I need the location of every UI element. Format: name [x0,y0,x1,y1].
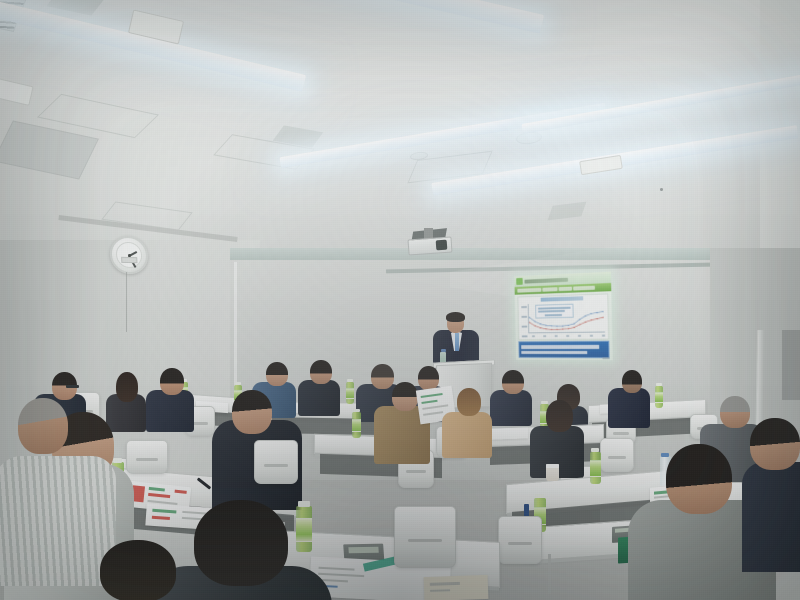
seminar-room-photo [0,0,800,600]
bottle-cap [656,383,662,386]
y-tick-label [522,326,528,328]
chart-data-point [597,318,598,319]
slide-nav-segment [517,288,541,293]
green-tea-bottle [590,452,601,484]
clock-face [115,242,142,268]
stacking-chair [394,506,456,568]
attendee-head [310,360,332,384]
bottle-cap [541,401,548,404]
attendee-head [622,370,642,393]
projected-slide [514,272,612,361]
attendee-torso [608,388,650,428]
green-tea-bottle [352,412,361,438]
stacking-chair [126,440,168,474]
handout-document [492,427,528,439]
bottle-cap [353,409,360,412]
attendee-head [18,398,68,454]
chart-data-point [556,326,557,327]
attendee-torso [0,456,116,586]
chart-plot-area [528,302,605,333]
chart-data-point [568,328,569,329]
ceiling-cove [230,248,710,260]
chart-title [541,296,584,301]
company-logo-icon [516,278,523,285]
attendee-torso [490,390,532,426]
chart-data-point [557,329,558,330]
chart-data-point [545,325,546,326]
chart-data-point [602,311,603,312]
attendee-head [666,444,732,514]
attendee-head [502,370,524,394]
attendee-head [418,366,439,390]
right-wall-panel [782,330,800,400]
attendee-head [100,540,176,600]
chart-data-point [551,329,552,330]
slide-content [514,272,612,361]
attendee-head [720,396,750,428]
chart-data-point [562,325,563,326]
stacking-chair [498,516,542,564]
y-tick-label [522,316,528,318]
table-leg [548,554,551,594]
ceiling-screw [660,188,663,191]
y-tick-label [522,335,528,337]
attendee-head [457,388,481,416]
slide-nav-segment [542,287,557,292]
name-card [424,575,489,600]
attendee-head [116,372,138,402]
bottle-cap [347,379,353,382]
chart-data-point [596,312,597,313]
slide-chart-panel [517,293,609,340]
presenter-tie [455,333,459,351]
attendee-torso [298,380,340,416]
bottle-cap [113,458,122,463]
bottle-cap [298,501,310,507]
slide-nav-segment [559,287,573,292]
attendee-head [232,390,272,434]
chart-series-lines [528,302,605,338]
attendee-head [371,364,394,389]
clock-center-pin [127,253,130,256]
attendee-head [160,368,184,395]
green-tea-bottle [655,386,663,408]
bottle-cap [661,453,669,457]
y-tick-label [521,306,527,308]
attendee-head [546,400,573,432]
slide-page-number [602,357,609,359]
attendee-head [266,362,288,386]
slide-nav-segment [573,286,595,291]
green-tea-bottle [346,382,354,404]
bottle-cap [535,494,544,498]
green-tea-bottle [296,506,312,552]
bottle-cap [591,448,599,452]
attendee-head [750,418,800,470]
projector-lens-icon [436,240,448,251]
footer-text-line [521,350,587,354]
attendee-head [392,382,418,411]
chart-data-point [562,328,563,329]
bottle-cap [235,382,241,385]
clock-date-window [121,257,137,263]
presenter-hair [446,312,465,322]
chart-data-point [551,325,552,326]
attendee-torso [742,462,800,572]
stacking-chair [600,438,634,472]
chart-data-point [602,317,603,318]
attendee-torso [146,390,194,432]
cup-lid [546,464,559,468]
wall-cable [126,272,127,332]
slide-footer-callout [518,341,609,359]
paper-coffee-cup [546,464,559,481]
chart-data-point [545,328,546,329]
attendee-head [194,500,288,586]
attendee-torso [442,412,492,458]
footer-text-line [521,345,599,349]
stacking-chair [254,440,298,484]
slide-title [524,277,568,283]
eyeglasses-icon [66,385,79,388]
